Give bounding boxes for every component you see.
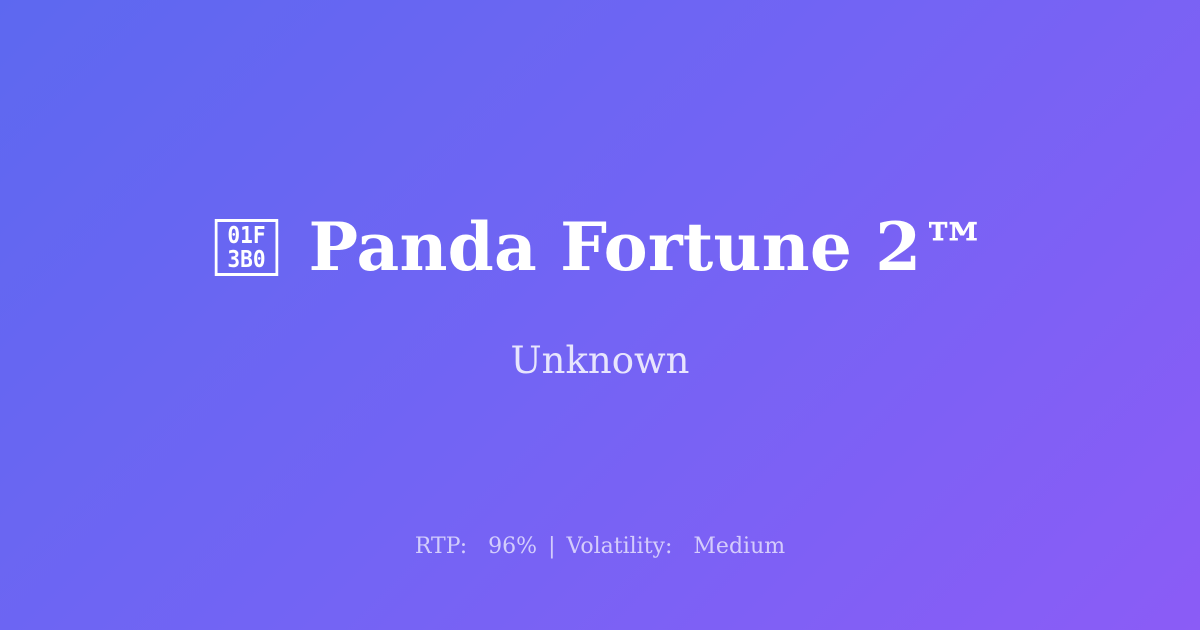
rtp-value: 96% [488, 534, 537, 559]
meta-separator: | [544, 534, 559, 559]
page-title: Panda Fortune 2™ [308, 212, 987, 283]
rtp-label: RTP: [415, 534, 467, 559]
title-row: 01F 3B0 Panda Fortune 2™ [0, 212, 1200, 283]
tofu-codepoint-top: 01F [228, 224, 266, 248]
subtitle-provider: Unknown [510, 339, 689, 383]
volatility-value: Medium [693, 534, 785, 559]
footer-meta: RTP: 96% | Volatility: Medium [0, 533, 1200, 562]
tofu-codepoint-bottom: 3B0 [228, 248, 266, 272]
slot-machine-emoji-icon: 01F 3B0 [215, 219, 278, 276]
volatility-label: Volatility: [567, 534, 673, 559]
og-share-card: 01F 3B0 Panda Fortune 2™ Unknown RTP: 96… [0, 0, 1200, 630]
